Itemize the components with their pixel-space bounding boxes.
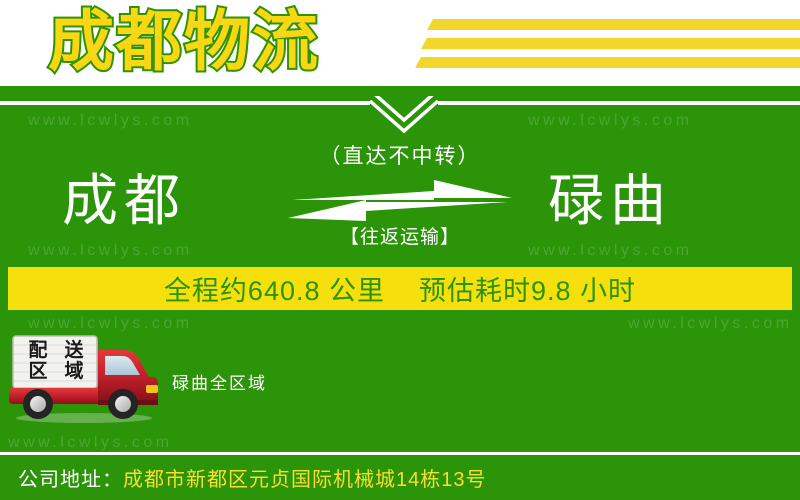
footer-separator-line [0,452,800,455]
decorative-stripe-2 [421,38,800,49]
logistics-banner: 成都物流 www.lcwlys.com www.lcwlys.com www.l… [0,0,800,500]
truck-box-char-4: 域 [64,362,83,381]
banner-header: 成都物流 [0,0,800,86]
truck-box-char-2: 送 [64,341,83,360]
truck-box-label: 配 送 区 域 [20,340,92,382]
delivery-truck-icon: 配 送 区 域 [6,330,166,430]
watermark: www.lcwlys.com [8,434,173,452]
decorative-stripe-1 [427,19,800,30]
destination-city: 碌曲 [548,173,672,229]
chevron-down-icon [368,96,440,136]
watermark: www.lcwlys.com [628,315,793,333]
decorative-stripe-3 [415,57,800,68]
address-label: 公司地址： [18,469,123,491]
page-title: 成都物流 [48,0,320,84]
watermark: www.lcwlys.com [28,112,193,130]
address-value: 成都市新都区元贞国际机械城14栋13号 [123,469,487,491]
duration-text: 预估耗时9.8 小时 [419,269,636,308]
watermark: www.lcwlys.com [528,112,693,130]
double-arrow-icon [284,178,516,223]
company-address: 公司地址：成都市新都区元贞国际机械城14栋13号 [18,463,487,492]
direct-shipping-note: （直达不中转） [0,140,800,170]
coverage-area-text: 碌曲全区域 [172,369,267,394]
roundtrip-note: 【往返运输】 [0,222,800,249]
truck-box-char-3: 区 [28,362,47,381]
route-info-bar: 全程约640.8 公里 预估耗时9.8 小时 [8,267,792,310]
distance-text: 全程约640.8 公里 [164,269,385,308]
truck-box-char-1: 配 [28,341,47,360]
origin-city: 成都 [62,173,186,229]
